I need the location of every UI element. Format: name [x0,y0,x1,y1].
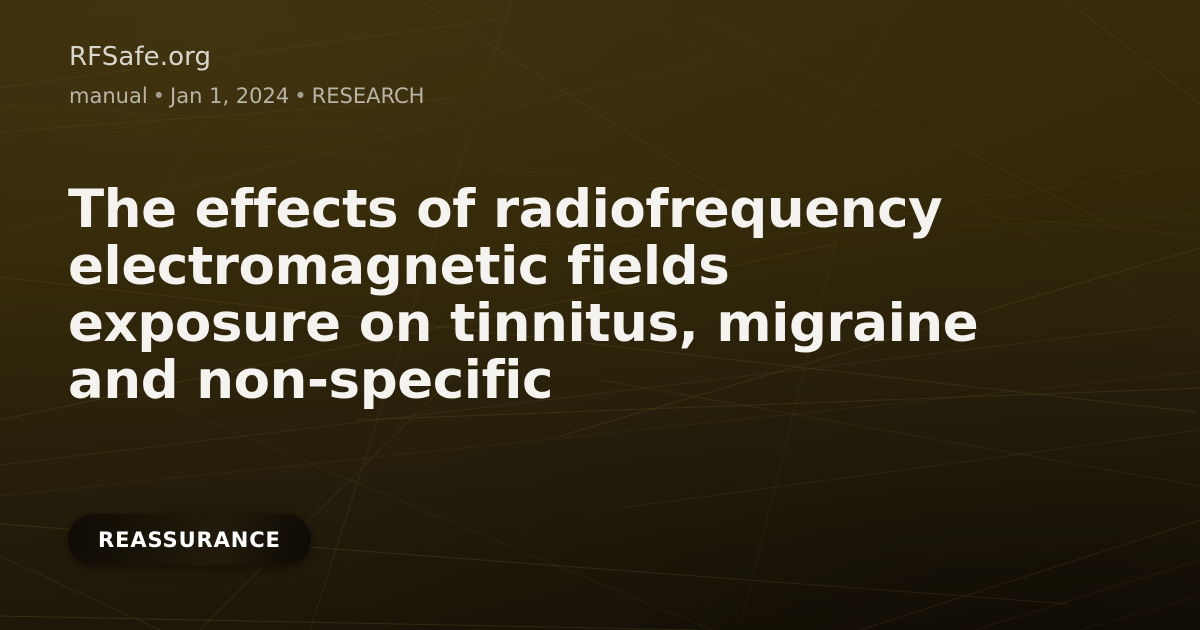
meta-separator-1: • [148,84,170,108]
social-share-card: RFSafe.org manual•Jan 1, 2024•RESEARCH T… [0,0,1200,630]
page-title-line-1: The effects of radiofrequency [68,181,1128,238]
page-title-line-3: exposure on tinnitus, migraine [68,295,1128,352]
card-content: RFSafe.org manual•Jan 1, 2024•RESEARCH T… [0,0,1200,630]
badge-row: REASSURANCE [68,514,311,565]
page-title: The effects of radiofrequencyelectromagn… [68,181,1128,409]
meta-source: manual [69,84,148,108]
meta-separator-2: • [289,84,311,108]
status-badge: REASSURANCE [68,514,311,565]
meta-date: Jan 1, 2024 [170,84,289,108]
meta-category: RESEARCH [312,84,425,108]
page-title-line-4: and non-specific [68,352,1128,409]
page-title-line-2: electromagnetic fields [68,238,1128,295]
article-meta: manual•Jan 1, 2024•RESEARCH [69,83,424,109]
brand-name: RFSafe.org [69,42,211,72]
